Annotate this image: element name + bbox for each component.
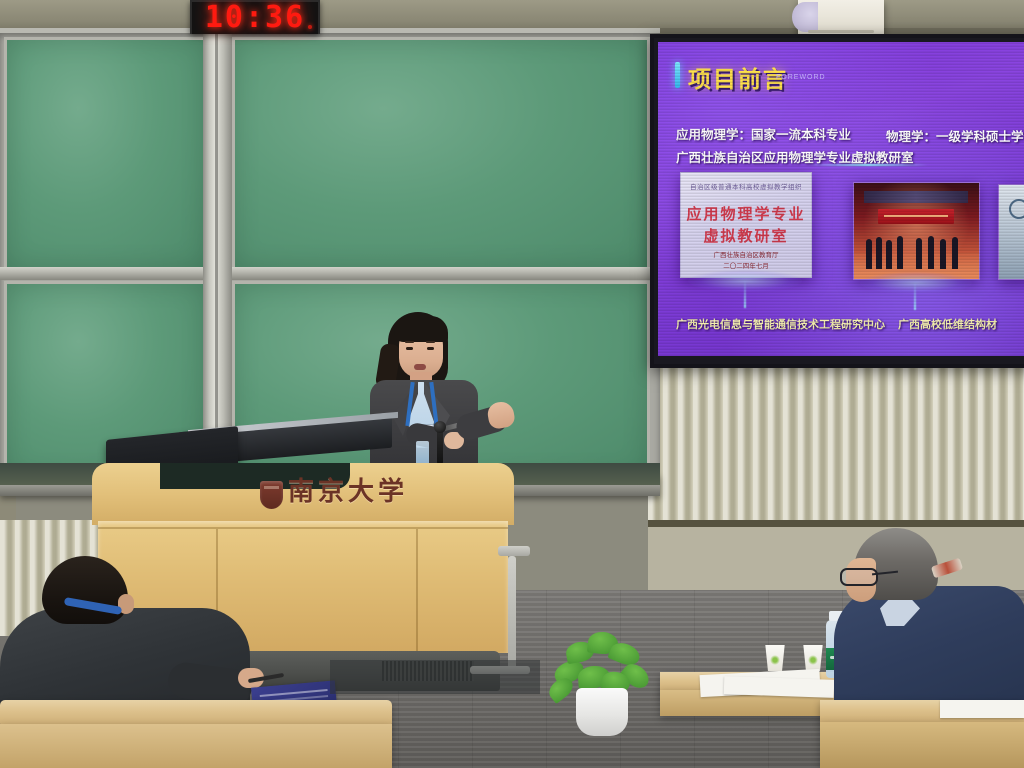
- stage-banner: [878, 209, 954, 224]
- podium-university-name: 南京大学: [288, 479, 408, 505]
- certificate-top-line: 自治区级普通本科高校虚拟教学组织: [681, 181, 811, 191]
- acoustic-panel-right: [648, 366, 1024, 526]
- certificate-main-line-2: 虚拟教研室: [681, 225, 811, 246]
- audience-member-right: [828, 528, 1024, 708]
- stage-person: [886, 240, 892, 269]
- certificate-main-line-1: 应用物理学专业: [681, 203, 811, 224]
- cup-logo-icon: [808, 655, 818, 665]
- slide-title: 项目前言: [688, 60, 788, 94]
- presenter-hand-right: [486, 400, 516, 430]
- slide-title-subtitle: FOREWORD: [776, 74, 826, 81]
- plant-pot: [576, 688, 628, 736]
- clock-time-display: 10:36: [205, 3, 305, 33]
- presenter-mouth: [414, 364, 426, 370]
- certificate-image: 自治区级普通本科高校虚拟教学组织 应用物理学专业 虚拟教研室 广西壮族自治区教育…: [680, 172, 812, 278]
- secondary-photo: [998, 184, 1024, 280]
- audience-right-suit: [834, 586, 1024, 712]
- desk-left-back-panel: [330, 660, 540, 694]
- presenter-brow-right: [426, 341, 435, 343]
- document-sheet-3: [940, 700, 1024, 718]
- glasses-icon: [840, 568, 878, 586]
- slide-glow-divider: [808, 164, 928, 166]
- chalkboard-panel-top-left: [4, 37, 208, 271]
- presenter-eye-right: [427, 347, 434, 350]
- stage-ceremony-photo: [853, 182, 980, 280]
- desk-front-left-face: [0, 724, 392, 768]
- stage-photo-pedestal-glow: [860, 272, 972, 294]
- secondary-photo-emblem-icon: [1009, 199, 1024, 219]
- desk-right-front-face: [820, 722, 1024, 768]
- chair-post: [508, 556, 516, 672]
- digital-clock: 10:36: [190, 0, 320, 34]
- stage-person: [876, 237, 882, 269]
- pothos-plant: [548, 628, 658, 736]
- clock-indicator-led: [308, 25, 312, 29]
- projector-lens-icon: [792, 2, 818, 32]
- presentation-screen[interactable]: 项目前言 FOREWORD 应用物理学：国家一流本科专业 物理学：一级学科硕士学…: [650, 34, 1024, 368]
- lecture-hall-scene: 10:36 项目前言 FOREWORD 应用物理学：国家一流本科专业 物理学：一…: [0, 0, 1024, 768]
- slide-footer-right: 广西高校低维结构材: [898, 316, 997, 332]
- certificate-footer-line-1: 广西壮族自治区教育厅: [681, 249, 811, 259]
- slide-footer-left: 广西光电信息与智能通信技术工程研究中心: [676, 316, 885, 332]
- certificate-beam: [744, 280, 746, 308]
- podium-seam-right: [416, 529, 418, 653]
- podium-top-surface: 南京大学: [92, 463, 514, 525]
- chalkboard-rail-horizontal: [0, 267, 660, 280]
- slide-accent-bar: [675, 62, 680, 88]
- stage-person: [866, 239, 872, 269]
- wall-trim-right: [648, 520, 1024, 527]
- document-sheet-2: [724, 676, 835, 698]
- slide-heading-left: 应用物理学：国家一流本科专业: [676, 124, 851, 143]
- stage-person: [940, 239, 946, 269]
- slide-canvas: 项目前言 FOREWORD 应用物理学：国家一流本科专业 物理学：一级学科硕士学…: [658, 42, 1024, 356]
- stage-person: [897, 236, 903, 269]
- stage-person: [928, 236, 934, 269]
- presenter-eye-left: [406, 347, 413, 350]
- stage-backdrop-screen: [864, 191, 968, 203]
- podium-microphone-icon[interactable]: [437, 429, 443, 465]
- stage-person: [916, 238, 922, 269]
- projector-seam: [808, 30, 874, 33]
- certificate-footer-line-2: 二〇二四年七月: [681, 260, 811, 270]
- stage-photo-beam: [914, 282, 916, 310]
- stage-person: [952, 237, 958, 269]
- presenter-hair-front: [394, 316, 448, 342]
- university-crest-icon: [260, 481, 283, 509]
- chalkboard-rail-vertical[interactable]: [203, 33, 232, 485]
- cup-logo-icon: [770, 655, 780, 665]
- podium-seam-top: [98, 527, 508, 529]
- chair-back-edge: [498, 546, 530, 556]
- slide-heading-right: 物理学：一级学科硕士学位授权: [886, 126, 1024, 145]
- presenter-brow-left: [405, 341, 414, 343]
- audience-member-left: [0, 556, 280, 716]
- chalkboard-panel-top-right: [232, 37, 650, 271]
